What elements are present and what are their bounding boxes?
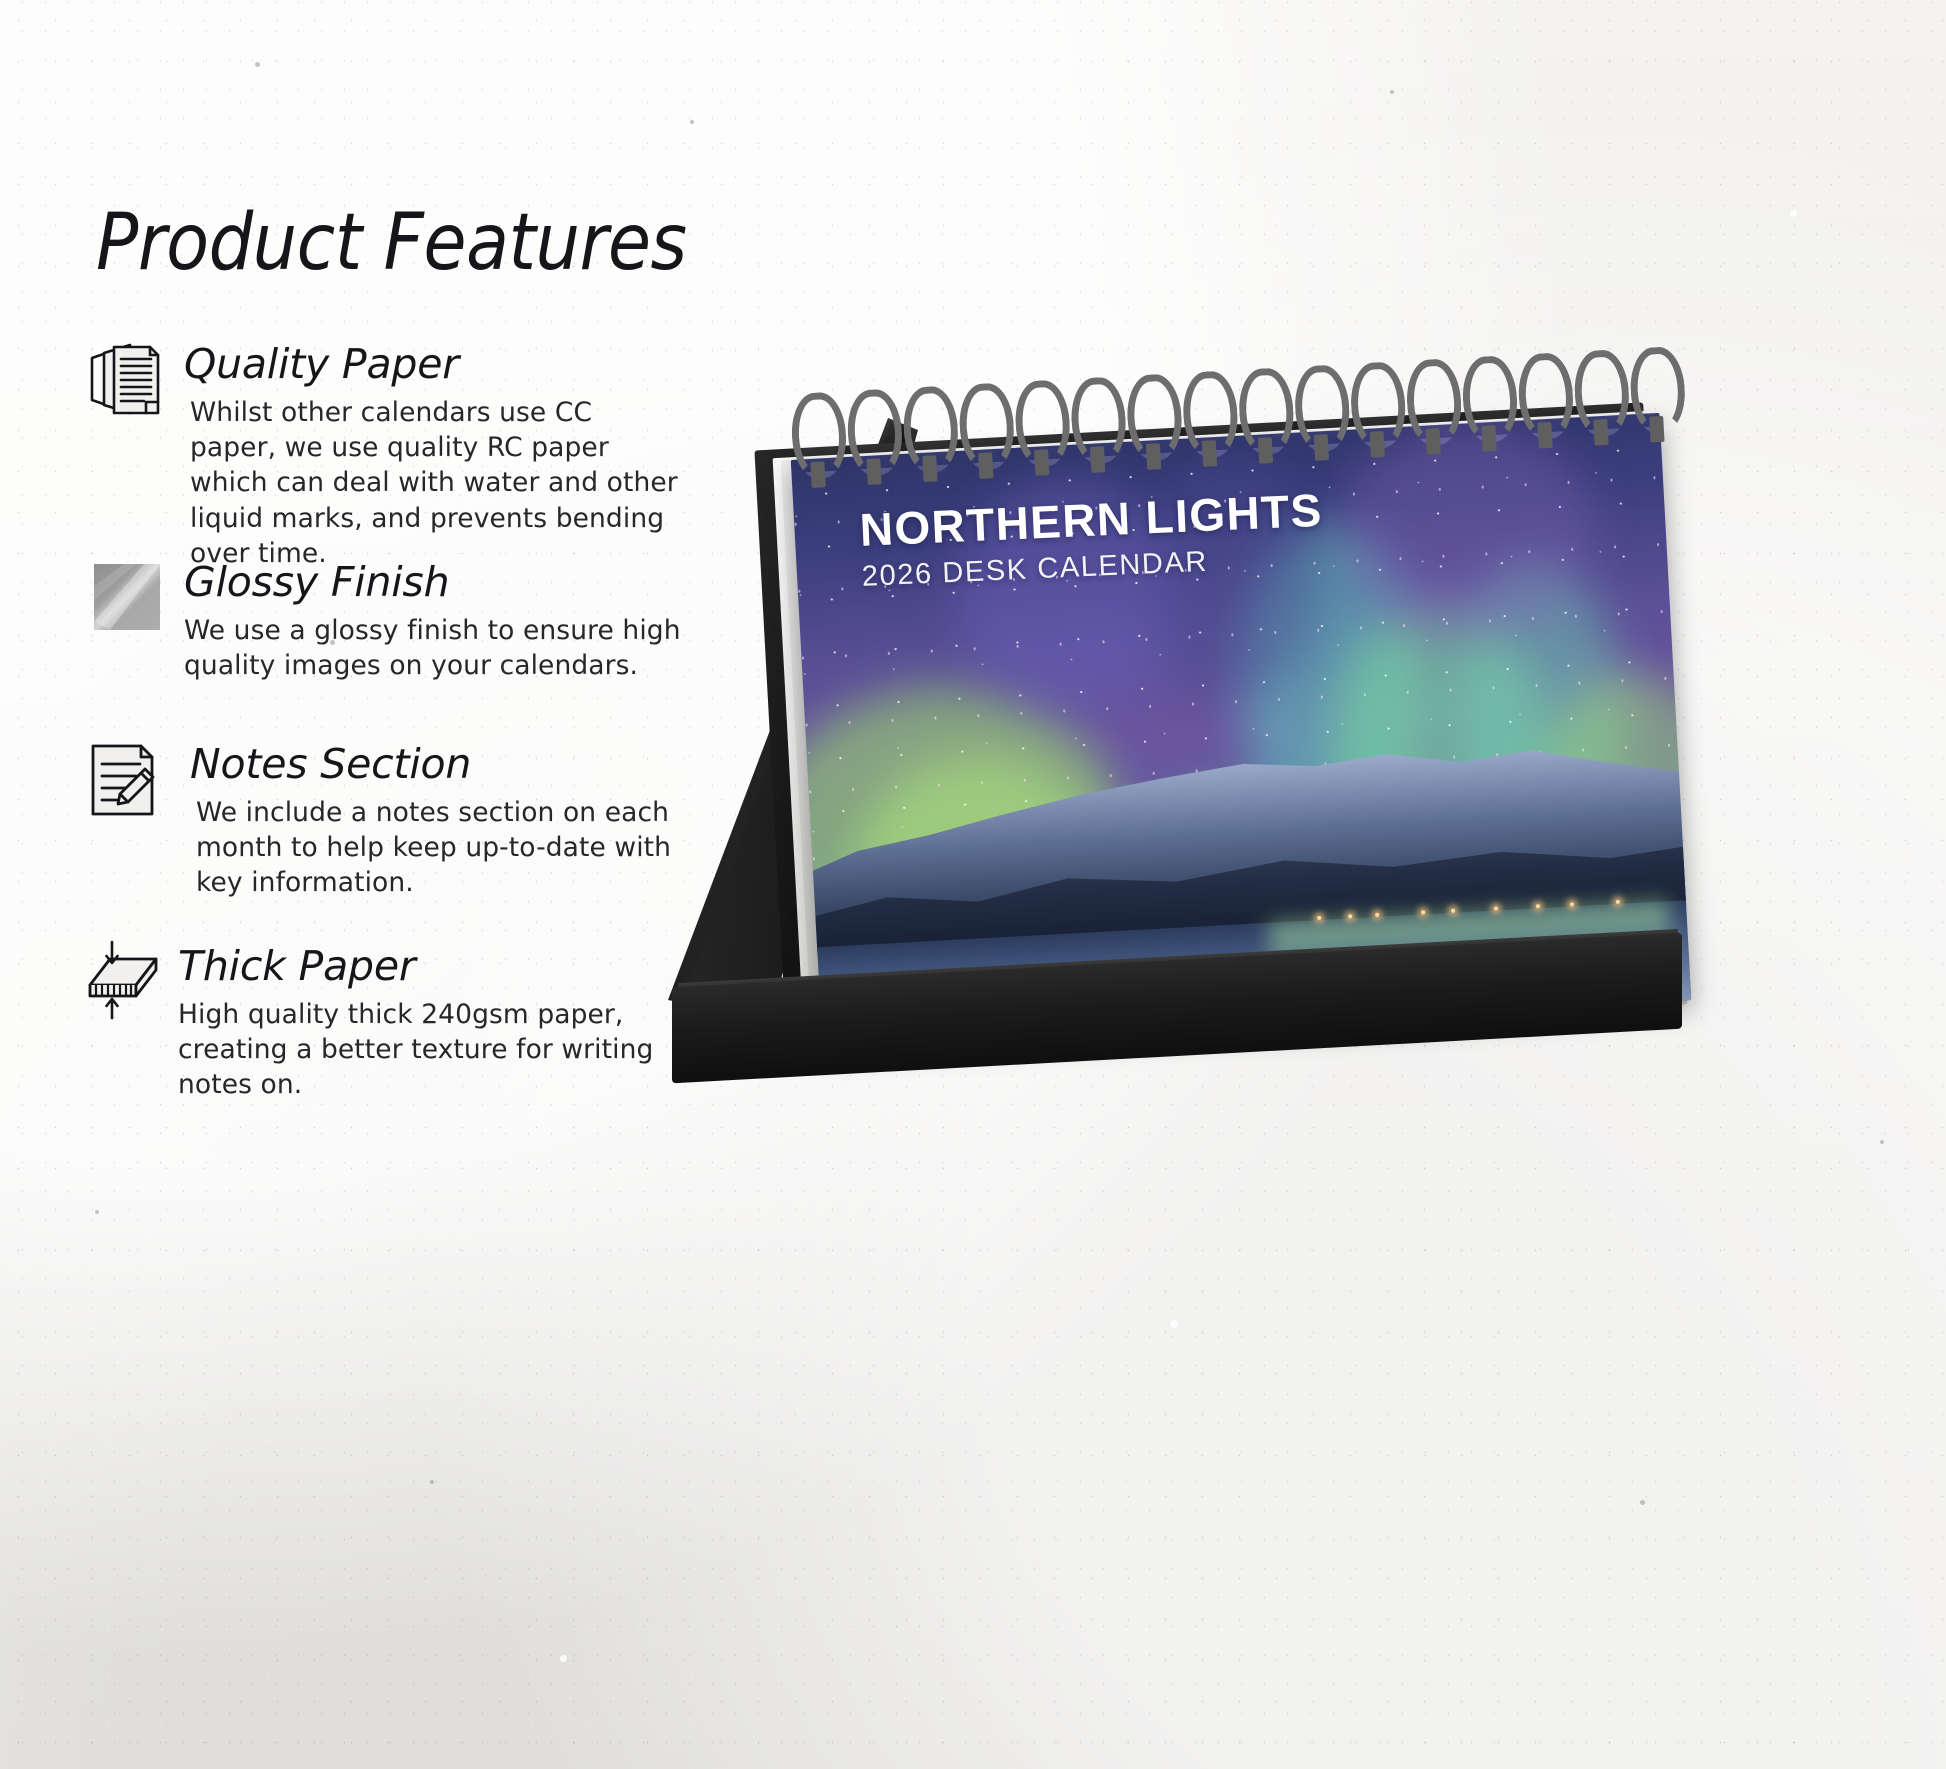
feature-title: Glossy Finish	[184, 562, 684, 603]
paper-thickness-arrows-icon	[84, 938, 168, 1022]
feature-title: Thick Paper	[178, 946, 684, 987]
feature-title: Notes Section	[190, 744, 684, 785]
stacked-documents-icon	[84, 336, 168, 420]
glossy-gradient-swatch-icon	[84, 556, 168, 640]
desk-calendar-mockup: NORTHERN LIGHTS 2026 DESK CALENDAR	[660, 330, 1760, 1160]
feature-item-glossy-finish: Glossy Finish We use a glossy finish to …	[84, 556, 684, 683]
feature-body: Whilst other calendars use CC paper, we …	[190, 395, 684, 571]
feature-item-notes-section: Notes Section We include a notes section…	[84, 738, 684, 901]
feature-item-quality-paper: Quality Paper Whilst other calendars use…	[84, 336, 684, 571]
feature-body: We use a glossy finish to ensure high qu…	[184, 613, 684, 683]
feature-body: High quality thick 240gsm paper, creatin…	[178, 997, 684, 1103]
feature-body: We include a notes section on each month…	[196, 795, 684, 901]
notepad-pencil-icon	[84, 738, 168, 822]
feature-title: Quality Paper	[184, 344, 684, 385]
page-title: Product Features	[96, 204, 687, 282]
feature-item-thick-paper: Thick Paper High quality thick 240gsm pa…	[84, 938, 684, 1103]
